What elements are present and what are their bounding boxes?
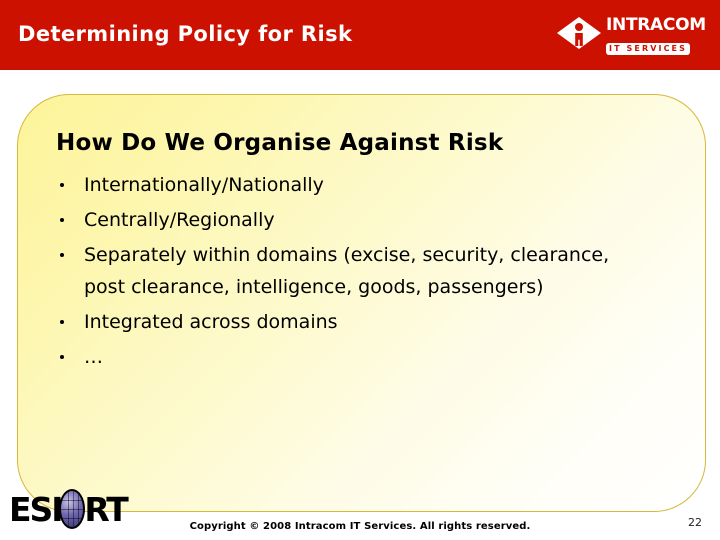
copyright-notice: Copyright © 2008 Intracom IT Services. A… [0,521,720,532]
list-item: Internationally/Nationally [52,169,632,201]
intracom-diamond-icon [556,16,602,50]
list-item-label: Separately within domains (excise, secur… [84,239,632,303]
list-item-label: Internationally/Nationally [84,169,632,201]
list-item-label: … [84,341,632,373]
it-services-badge: IT SERVICES [606,43,690,55]
list-item-label: Integrated across domains [84,306,632,338]
bullet-dot-icon [60,183,64,187]
intracom-name: INTRACOM [606,14,708,36]
bullet-dot-icon [60,253,64,257]
bullet-dot-icon [60,218,64,222]
list-item: Separately within domains (excise, secur… [52,239,632,303]
intracom-wordmark: INTRACOM IT SERVICES [606,14,708,55]
bullet-dot-icon [60,355,64,359]
content-heading: How Do We Organise Against Risk [56,130,503,156]
list-item: … [52,341,632,373]
bullet-dot-icon [60,320,64,324]
slide-canvas: Determining Policy for Risk INTRACOM IT … [0,0,720,540]
list-item: Centrally/Regionally [52,204,632,236]
list-item: Integrated across domains [52,306,632,338]
bullet-list: Internationally/Nationally Centrally/Reg… [52,169,632,376]
slide-title: Determining Policy for Risk [18,22,352,46]
page-number: 22 [688,516,702,529]
list-item-label: Centrally/Regionally [84,204,632,236]
it-services-label: IT SERVICES [609,44,687,54]
intracom-logo: INTRACOM IT SERVICES [556,14,708,60]
